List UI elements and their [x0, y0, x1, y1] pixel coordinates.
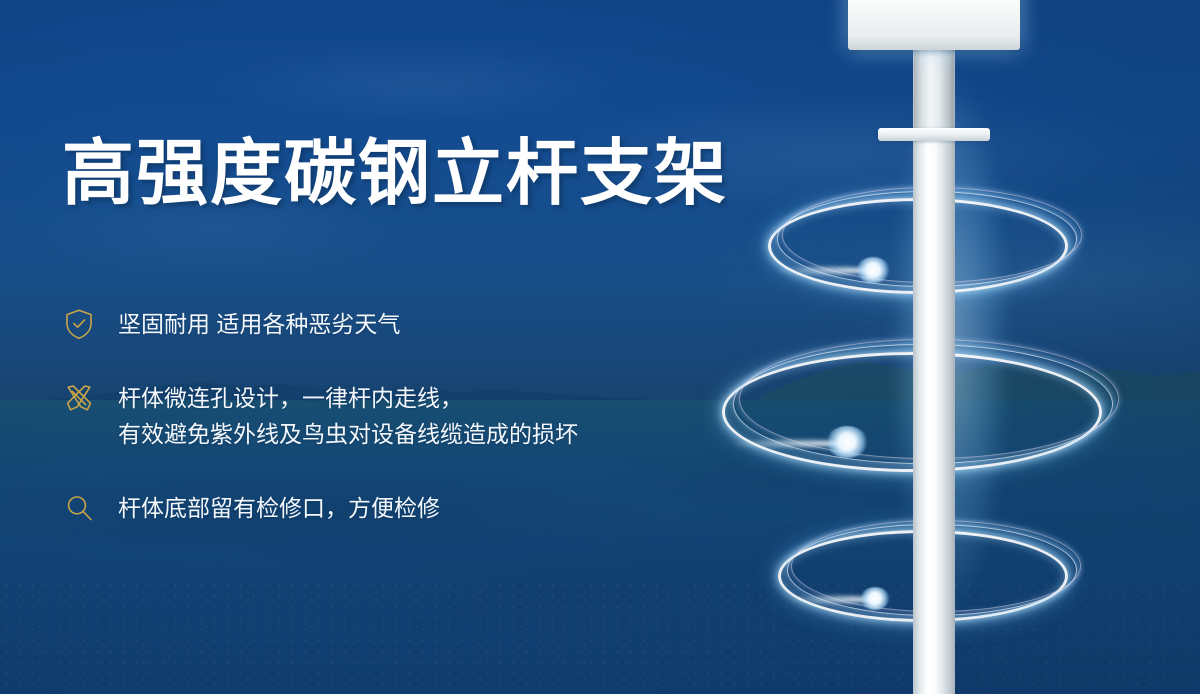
- feature-list: 坚固耐用 适用各种恶劣天气 杆体微连孔设计，一律杆内走线， 有效避免紫外线及鸟虫…: [62, 306, 762, 564]
- crossed-pens-icon: [62, 381, 96, 415]
- feature-line: 杆体微连孔设计，一律杆内走线，: [118, 380, 578, 416]
- feature-item: 坚固耐用 适用各种恶劣天气: [62, 306, 762, 342]
- product-banner: 高强度碳钢立杆支架 坚固耐用 适用各种恶劣天气: [0, 0, 1200, 694]
- feature-line: 杆体底部留有检修口，方便检修: [118, 490, 440, 526]
- content-column: 高强度碳钢立杆支架 坚固耐用 适用各种恶劣天气: [62, 0, 782, 694]
- feature-text: 杆体微连孔设计，一律杆内走线， 有效避免紫外线及鸟虫对设备线缆造成的损坏: [118, 380, 578, 452]
- feature-line: 坚固耐用 适用各种恶劣天气: [118, 306, 400, 342]
- magnifier-icon: [62, 491, 96, 525]
- product-illustration: [700, 0, 1200, 694]
- shield-check-icon: [62, 307, 96, 341]
- feature-item: 杆体底部留有检修口，方便检修: [62, 490, 762, 526]
- feature-text: 杆体底部留有检修口，方便检修: [118, 490, 440, 526]
- pole-body: [913, 46, 955, 694]
- page-title: 高强度碳钢立杆支架: [62, 138, 728, 210]
- feature-line: 有效避免紫外线及鸟虫对设备线缆造成的损坏: [118, 416, 578, 452]
- pole-mounting-bracket: [878, 128, 990, 141]
- feature-text: 坚固耐用 适用各种恶劣天气: [118, 306, 400, 342]
- device-enclosure: [848, 0, 1020, 50]
- feature-item: 杆体微连孔设计，一律杆内走线， 有效避免紫外线及鸟虫对设备线缆造成的损坏: [62, 380, 762, 452]
- pole-upper-segment: [914, 46, 954, 132]
